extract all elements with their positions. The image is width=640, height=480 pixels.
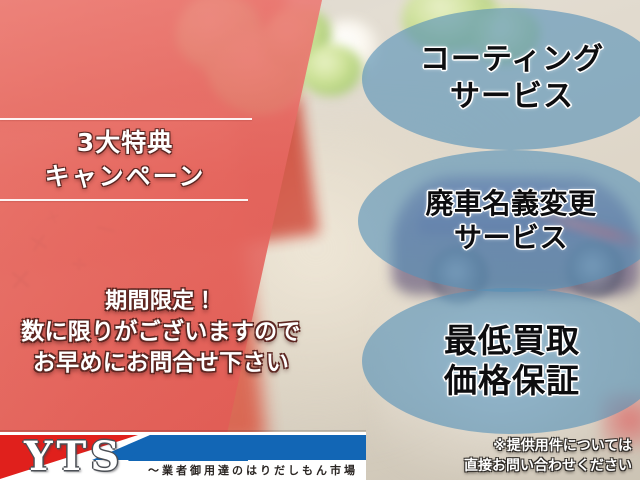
logo-wordmark: YTS (24, 436, 123, 478)
headline-rule-top (0, 118, 252, 120)
benefit-line-2: サービス (379, 221, 640, 255)
benefit-text-coating: コーティング サービス (380, 42, 640, 115)
footnote-line-2: 直接お問い合わせください (332, 456, 632, 476)
logo-bar: YTS 〜業者御用達のはりだしもん市場 (0, 432, 366, 480)
footnote-line-1: ※提供用件については (332, 436, 632, 456)
promo-banner: × ÷ × 一 ＋ 3大特典 キャンペーン 期間限定！ 数に限りがございますので (0, 0, 640, 480)
benefit-line-1: 最低買取 (380, 321, 640, 361)
limited-time-notice: 期間限定！ 数に限りがございますので お早めにお問合せ下さい (0, 286, 322, 379)
benefit-text-title-transfer: 廃車名義変更 サービス (379, 187, 640, 255)
benefit-text-price-guarantee: 最低買取 価格保証 (380, 321, 640, 402)
notice-line-3: お早めにお問合せ下さい (0, 348, 322, 379)
notice-line-2: 数に限りがございますので (0, 317, 322, 348)
benefit-line-2: 価格保証 (380, 361, 640, 401)
benefit-line-1: 廃車名義変更 (379, 187, 640, 221)
notice-line-1: 期間限定！ (0, 286, 322, 317)
headline-line-2: キャンペーン (0, 160, 250, 194)
benefit-line-2: サービス (380, 79, 640, 116)
footnote-block: ※提供用件については 直接お問い合わせください (332, 436, 632, 476)
headline-line-1: 3大特典 (0, 126, 250, 160)
benefit-line-1: コーティング (380, 42, 640, 79)
headline-block: 3大特典 キャンペーン (0, 126, 250, 194)
logo-tagline: 〜業者御用達のはりだしもん市場 (148, 462, 358, 478)
headline-rule-bottom (0, 199, 248, 201)
